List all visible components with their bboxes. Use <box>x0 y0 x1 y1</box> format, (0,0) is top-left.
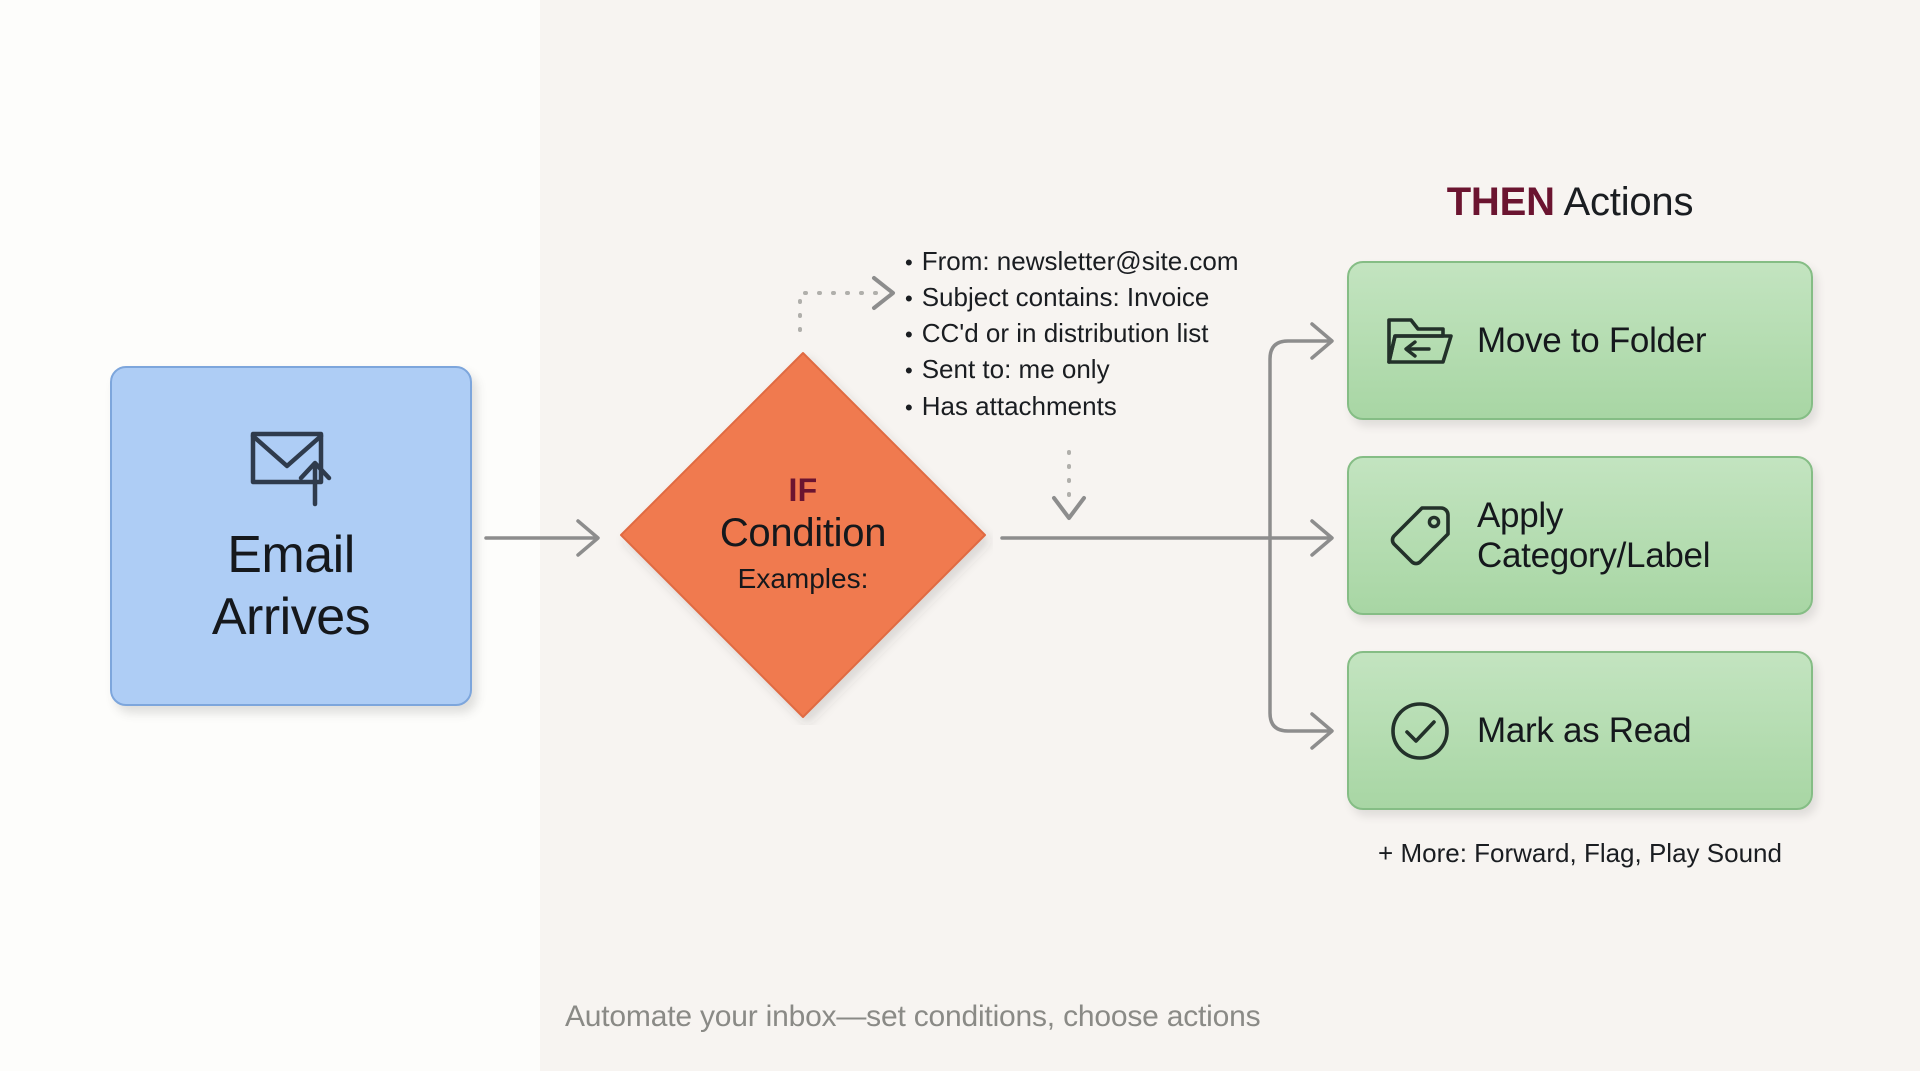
action-card-label-line1: Apply <box>1477 496 1563 535</box>
tag-icon <box>1385 501 1455 571</box>
trigger-label-line2: Arrives <box>212 587 370 648</box>
list-item: • Sent to: me only <box>905 351 1305 387</box>
list-item-label: CC'd or in distribution list <box>922 315 1209 351</box>
actions-title-rest: Actions <box>1555 180 1693 224</box>
list-item-label: Subject contains: Invoice <box>922 279 1210 315</box>
action-card-label: Mark as Read <box>1477 711 1691 751</box>
list-item: • Has attachments <box>905 388 1305 424</box>
bullet-icon: • <box>905 360 913 382</box>
action-card-apply-category-label[interactable]: Apply Category/Label <box>1347 456 1813 615</box>
list-item: • CC'd or in distribution list <box>905 315 1305 351</box>
action-card-label: Move to Folder <box>1477 321 1706 361</box>
list-item-label: Sent to: me only <box>922 351 1110 387</box>
action-card-move-to-folder[interactable]: Move to Folder <box>1347 261 1813 420</box>
action-card-label-line2: Category/Label <box>1477 536 1710 575</box>
list-item-label: Has attachments <box>922 388 1117 424</box>
trigger-node-email-arrives[interactable]: Email Arrives <box>110 366 472 706</box>
action-card-mark-as-read[interactable]: Mark as Read <box>1347 651 1813 810</box>
condition-title: Condition <box>720 509 886 557</box>
bullet-icon: • <box>905 252 913 274</box>
trigger-label: Email Arrives <box>212 525 370 648</box>
condition-subtitle: Examples: <box>738 561 869 597</box>
actions-section-title: THEN Actions <box>1330 180 1810 225</box>
list-item: • Subject contains: Invoice <box>905 279 1305 315</box>
action-card-label: Apply Category/Label <box>1477 496 1710 576</box>
bullet-icon: • <box>905 324 913 346</box>
more-actions-note: + More: Forward, Flag, Play Sound <box>1330 838 1830 869</box>
list-item: • From: newsletter@site.com <box>905 243 1305 279</box>
diagram-canvas: Email Arrives IF Condition Examples: • F… <box>0 0 1920 1071</box>
folder-move-icon <box>1385 306 1455 376</box>
footer-caption: Automate your inbox—set conditions, choo… <box>565 1000 1260 1034</box>
list-item-label: From: newsletter@site.com <box>922 243 1239 279</box>
trigger-label-line1: Email <box>212 525 370 586</box>
condition-keyword: IF <box>788 472 817 509</box>
condition-examples-list: • From: newsletter@site.com • Subject co… <box>905 243 1305 424</box>
check-circle-icon <box>1385 696 1455 766</box>
actions-title-keyword: THEN <box>1447 180 1555 224</box>
bullet-icon: • <box>905 397 913 419</box>
envelope-arrow-up-icon <box>243 424 339 515</box>
bullet-icon: • <box>905 288 913 310</box>
